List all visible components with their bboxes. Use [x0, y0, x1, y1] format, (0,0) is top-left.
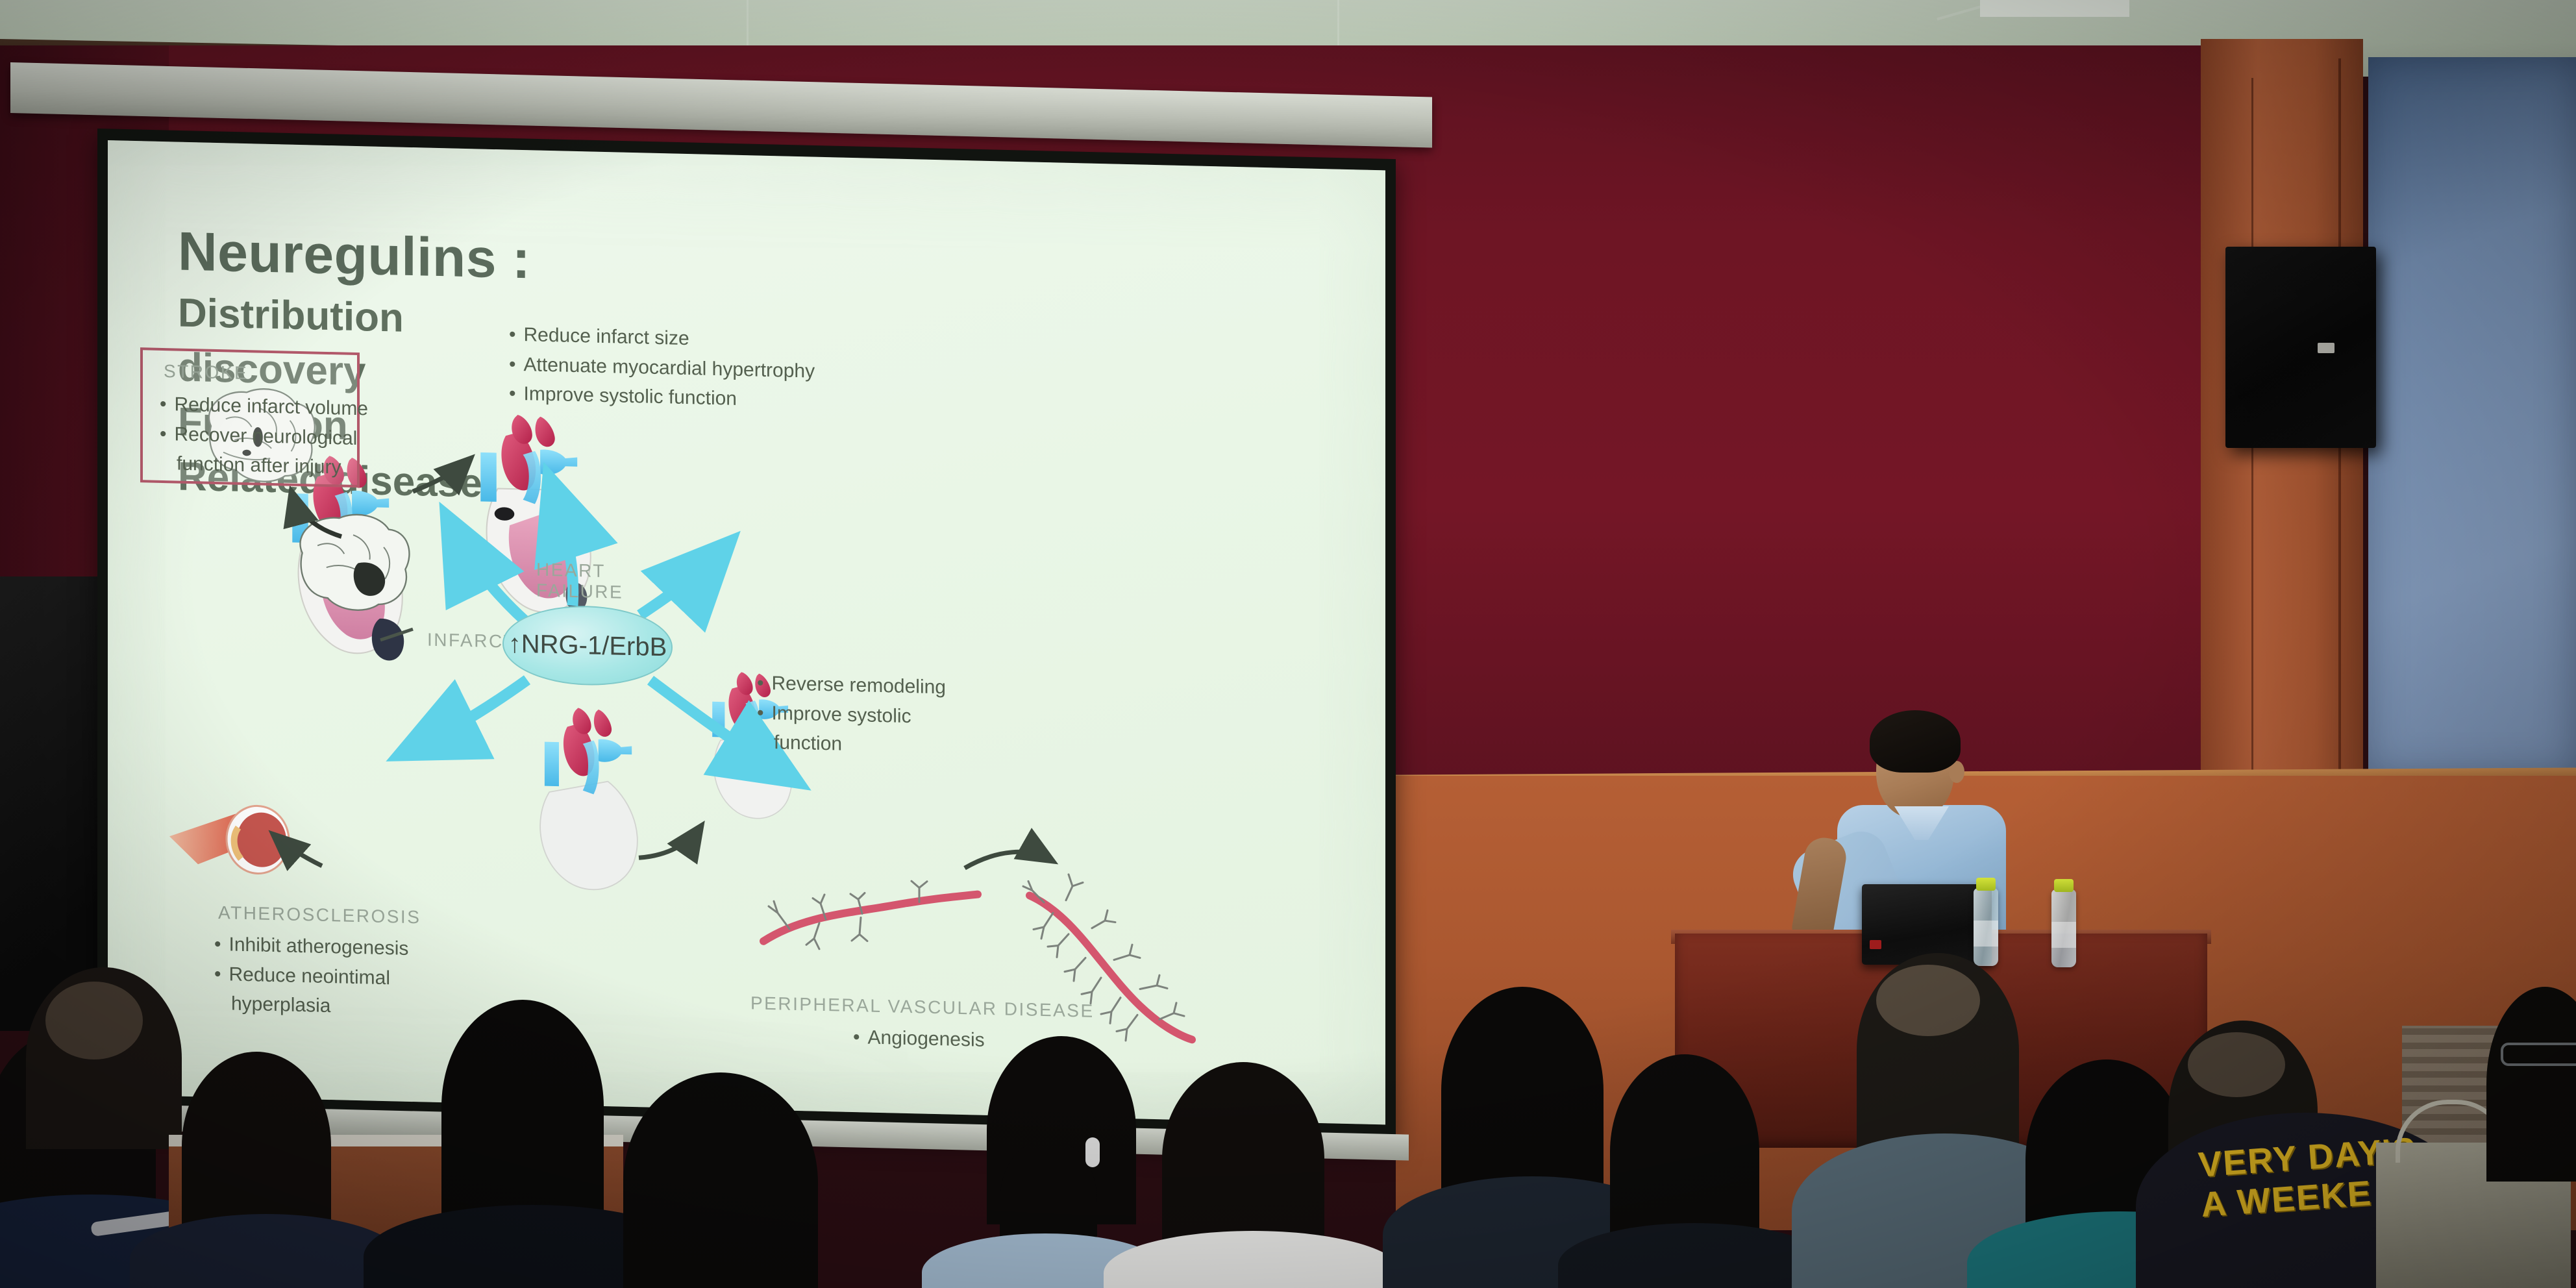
stroke-bullets: Reduce infarct volume Recover neurologic…: [160, 390, 368, 483]
water-bottle-cap: [2054, 879, 2074, 892]
ceiling-seam: [1337, 0, 1339, 47]
section-label-atherosclerosis: ATHEROSCLEROSIS: [218, 902, 421, 928]
audience-shoulder: [1104, 1231, 1402, 1288]
water-bottle-label: [2051, 922, 2076, 948]
presenter-hand: [1794, 818, 1842, 861]
section-label-pvd: PERIPHERAL VASCULAR DISEASE: [750, 993, 1095, 1021]
heart-failure-label-line1: HEART: [536, 560, 623, 582]
audience-head: [1441, 987, 1604, 1195]
heart-failure-bullets: Reverse remodeling Improve systolic func…: [757, 669, 946, 762]
water-bottle-label: [1974, 921, 1998, 947]
bullet-athero-2b: hyperplasia: [214, 989, 408, 1023]
bullet-stroke-2b: function after injury: [160, 449, 368, 483]
bullet-hf-1: Reverse remodeling: [757, 669, 946, 702]
ceiling-light: [1980, 0, 2129, 17]
laptop-logo-icon: [1870, 940, 1881, 949]
loudspeaker-badge: [2318, 343, 2334, 353]
audience-head-bald-top: [45, 982, 143, 1059]
audience-head: [1610, 1054, 1759, 1249]
laptop: [1862, 884, 1992, 965]
pvd-bullets: Angiogenesis: [853, 1022, 985, 1055]
slide-title: Neuregulins :: [178, 220, 530, 291]
bullet-hf-2: Improve systolic: [757, 698, 946, 732]
audience-head: [441, 1000, 604, 1214]
audience-head-bald-top: [1876, 965, 1980, 1036]
eyeglasses-icon: [2501, 1043, 2576, 1066]
ceiling-seam: [747, 0, 749, 52]
loudspeaker-icon: [2225, 247, 2376, 448]
audience-head: [182, 1052, 331, 1240]
bullet-stroke-2: Recover neurological: [160, 419, 368, 453]
bullet-stroke-1: Reduce infarct volume: [160, 390, 368, 424]
section-label-stroke: STROKE: [164, 361, 248, 384]
water-bottle-cap: [1976, 878, 1996, 891]
infarct-bullets: Reduce infarct size Attenuate myocardial…: [509, 320, 815, 416]
heart-failure-label-line2: FAILURE: [536, 580, 623, 603]
presentation-slide: Neuregulins : Distribution discovery Fun…: [108, 140, 1385, 1124]
center-node-nrg1-erbb: ↑NRG-1/ErbB: [502, 604, 673, 687]
lecture-hall-photo: Neuregulins : Distribution discovery Fun…: [0, 0, 2576, 1288]
bullet-hf-2b: function: [757, 728, 946, 762]
bullet-athero-1: Inhibit atherogenesis: [214, 930, 408, 964]
bullet-athero-2: Reduce neointimal: [214, 959, 408, 993]
atherosclerosis-bullets: Inhibit atherogenesis Reduce neointimal …: [214, 930, 408, 1023]
wall-board: [2368, 57, 2576, 775]
section-label-heart-failure: HEART FAILURE: [536, 560, 623, 603]
slide-subtitle-distribution: Distribution: [178, 290, 404, 341]
center-node-label: ↑NRG-1/ErbB: [508, 629, 667, 662]
bullet-pvd-1: Angiogenesis: [853, 1022, 985, 1055]
audience-head: [1162, 1062, 1324, 1257]
presenter-hair: [1870, 710, 1961, 773]
hair-clip-icon: [1085, 1137, 1100, 1167]
audience-head: [623, 1072, 818, 1288]
audience-head-bald-top: [2188, 1032, 2285, 1097]
